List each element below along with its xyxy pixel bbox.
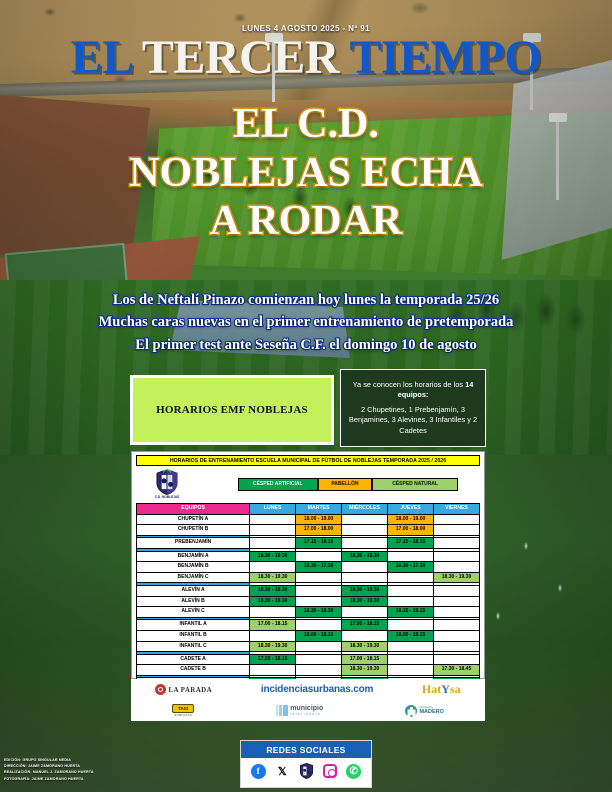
schedule-row: ALEVÍN A18.30 - 19.3018.30 - 19.30 (137, 585, 480, 596)
schedule-slot-cell: 18.00 - 19.00 (296, 514, 342, 525)
sponsor-hatysa[interactable]: HatYsa (422, 682, 461, 697)
column-header-miercoles: MIÉRCOLES (342, 504, 388, 515)
legend-cesped-artificial: CÉSPED ARTIFICIAL (238, 478, 318, 491)
sponsor-municipio-inteligente[interactable]: municipioINTELIGENTE (276, 705, 323, 716)
schedule-row: CADETE B18.30 - 19.3017.30 - 18.45 (137, 665, 480, 676)
schedule-row: CHUPETÍN A18.00 - 19.0018.00 - 19.00 (137, 514, 480, 525)
schedule-slot-cell: 18.30 - 19.30 (342, 551, 388, 562)
club-crest-label: C.D. NOBLEJAS (155, 495, 180, 499)
sponsor-strip: LA PARADA incidenciasurbanas.com HatYsa … (131, 679, 485, 721)
schedule-empty-cell (250, 630, 296, 641)
sponsor-farmacia-madero[interactable]: FarmaciaMADERO (405, 705, 443, 717)
schedule-slot-cell: 18.30 - 19.30 (342, 596, 388, 607)
schedule-empty-cell (434, 641, 480, 652)
schedule-slot-cell: 18.00 - 19.00 (388, 514, 434, 525)
schedule-slot-cell: 17.00 - 18.15 (342, 654, 388, 665)
subheadline-3: El primer test ante Seseña C.F. el domin… (0, 334, 612, 356)
schedule-slot-cell: 18.30 - 19.30 (296, 607, 342, 618)
schedule-empty-cell (434, 551, 480, 562)
headline-line-3: A RODAR (0, 197, 612, 246)
sponsor-incidencias-urbanas[interactable]: incidenciasurbanas.com (261, 684, 373, 695)
municipio-icon (276, 705, 288, 716)
schedule-empty-cell (342, 630, 388, 641)
taxi-sublabel: NOBLEJAS (174, 713, 192, 717)
credit-line-4: FOTOGRAFÍA: JAIME ZAMORANO HUERTA (4, 776, 164, 782)
headline-line-2: NOBLEJAS ECHA (0, 149, 612, 198)
social-media-panel: REDES SOCIALES f 𝕏 ✆ (240, 740, 372, 788)
schedule-empty-cell (434, 585, 480, 596)
farmacia-label: FarmaciaMADERO (419, 706, 443, 715)
equipos-info-line-2: equipos: (348, 390, 478, 401)
schedule-row: BENJAMÍN B16.30 - 17.3016.30 - 17.30 (137, 562, 480, 573)
newspaper-cover-page: LUNES 4 AGOSTO 2025 - Nº 91 EL TERCER TI… (0, 0, 612, 792)
schedule-slot-cell: 18.30 - 19.30 (342, 641, 388, 652)
team-name-cell: CHUPETÍN B (137, 525, 250, 536)
municipio-sublabel: INTELIGENTE (290, 712, 323, 716)
horarios-label-box: HORARIOS EMF NOBLEJAS (130, 375, 334, 445)
equipos-info-line-4: Benjamines, 3 Alevines, 3 Infantiles y 2 (348, 415, 478, 426)
schedule-slot-cell: 17.00 - 18.15 (342, 620, 388, 631)
equipos-info-box: Ya se conocen los horarios de los 14 equ… (340, 369, 486, 447)
team-name-cell: ALEVÍN C (137, 607, 250, 618)
social-media-title: REDES SOCIALES (241, 741, 371, 758)
schedule-empty-cell (296, 654, 342, 665)
team-name-cell: BENJAMÍN B (137, 562, 250, 573)
schedule-slot-cell: 16.30 - 17.30 (296, 562, 342, 573)
team-name-cell: CADETE A (137, 654, 250, 665)
equipos-info-line-5: Cadetes (348, 426, 478, 437)
schedule-empty-cell (296, 665, 342, 676)
headline-line-1: EL C.D. (0, 100, 612, 149)
x-twitter-icon[interactable]: 𝕏 (275, 764, 290, 779)
schedule-empty-cell (342, 514, 388, 525)
legend-pabellon: PABELLÓN (318, 478, 373, 491)
schedule-slot-cell: 18.30 - 19.30 (342, 585, 388, 596)
equipos-info-line-3: 2 Chupetines, 1 Prebenjamín, 3 (348, 405, 478, 416)
schedule-empty-cell (250, 562, 296, 573)
column-header-viernes: VIERNES (434, 504, 480, 515)
schedule-empty-cell (434, 596, 480, 607)
schedule-header-row: C.D. NOBLEJAS CÉSPED ARTIFICIAL PABELLÓN… (136, 468, 480, 500)
sponsor-row-bottom: TAXI NOBLEJAS municipioINTELIGENTE Farma… (131, 700, 485, 721)
column-header-equipos: EQUIPOS (137, 504, 250, 515)
schedule-row: PREBENJAMÍN17.15 - 18.1517.15 - 18.15 (137, 538, 480, 549)
schedule-empty-cell (296, 585, 342, 596)
taxi-label: TAXI (172, 704, 194, 713)
team-name-cell: INFANTIL B (137, 630, 250, 641)
schedule-slot-cell: 18.30 - 19.30 (250, 585, 296, 596)
legend-cesped-natural: CÉSPED NATURAL (372, 478, 458, 491)
schedule-row: BENJAMÍN A18.30 - 19.3018.30 - 19.30 (137, 551, 480, 562)
schedule-empty-cell (388, 654, 434, 665)
column-header-martes: MARTES (296, 504, 342, 515)
column-header-jueves: JUEVES (388, 504, 434, 515)
schedule-empty-cell (434, 538, 480, 549)
team-name-cell: BENJAMÍN A (137, 551, 250, 562)
subheadline-1: Los de Neftalí Pinazo comienzan hoy lune… (0, 289, 612, 311)
team-name-cell: INFANTIL C (137, 641, 250, 652)
schedule-slot-cell: 18.30 - 19.30 (342, 665, 388, 676)
schedule-empty-cell (250, 514, 296, 525)
credits-block: EDICIÓN: GRUPO SINGULAR MEDIA DIRECCIÓN:… (4, 757, 164, 782)
schedule-row: INFANTIL C18.30 - 19.3018.30 - 19.30 (137, 641, 480, 652)
schedule-row: INFANTIL A17.00 - 18.1517.00 - 18.15 (137, 620, 480, 631)
page-headline: EL C.D. NOBLEJAS ECHA A RODAR (0, 100, 612, 246)
schedule-empty-cell (342, 607, 388, 618)
schedule-slot-cell: 17.15 - 18.15 (388, 538, 434, 549)
team-name-cell: BENJAMÍN C (137, 572, 250, 583)
schedule-empty-cell (388, 665, 434, 676)
schedule-empty-cell (296, 641, 342, 652)
schedule-slot-cell: 18.30 - 19.30 (250, 551, 296, 562)
schedule-slot-cell: 17.00 - 18.15 (250, 620, 296, 631)
social-media-icons: f 𝕏 ✆ (241, 758, 371, 784)
schedule-slot-cell: 17.00 - 18.00 (388, 525, 434, 536)
schedule-slot-cell: 18.30 - 19.30 (250, 641, 296, 652)
schedule-empty-cell (388, 620, 434, 631)
club-badge-icon[interactable] (299, 763, 314, 779)
schedule-table-header: EQUIPOS LUNES MARTES MIÉRCOLES JUEVES VI… (137, 504, 480, 515)
masthead-word-el: EL (71, 31, 131, 84)
schedule-slot-cell: 16.30 - 17.30 (388, 562, 434, 573)
schedule-row: ALEVÍN C18.30 - 19.3018.15 - 19.15 (137, 607, 480, 618)
schedule-table-body: CHUPETÍN A18.00 - 19.0018.00 - 19.00CHUP… (137, 514, 480, 699)
schedule-slot-cell: 17.00 - 18.15 (250, 654, 296, 665)
schedule-row: CHUPETÍN B17.00 - 18.0017.00 - 18.00 (137, 525, 480, 536)
schedule-empty-cell (342, 572, 388, 583)
schedule-empty-cell (296, 551, 342, 562)
schedule-slot-cell: 17.30 - 18.45 (434, 665, 480, 676)
schedule-slot-cell: 18.30 - 19.30 (250, 596, 296, 607)
instagram-icon[interactable] (323, 764, 337, 778)
sponsor-la-parada[interactable]: LA PARADA (155, 684, 212, 695)
schedule-empty-cell (342, 562, 388, 573)
masthead-word-tercer: TERCER (142, 31, 339, 84)
farmacia-cross-icon (405, 705, 417, 717)
whatsapp-icon[interactable]: ✆ (346, 764, 361, 779)
schedule-slot-cell: 18.15 - 19.15 (388, 607, 434, 618)
subheadline-2: Muchas caras nuevas en el primer entrena… (0, 311, 612, 333)
schedule-empty-cell (434, 630, 480, 641)
schedule-empty-cell (434, 514, 480, 525)
equipos-info-text-a: Ya se conocen los horarios de los (353, 380, 465, 389)
schedule-empty-cell (250, 538, 296, 549)
masthead-word-tiempo: TIEMPO (350, 31, 542, 84)
surface-legend: CÉSPED ARTIFICIAL PABELLÓN CÉSPED NATURA… (238, 478, 458, 491)
schedule-row: INFANTIL B18.00 - 19.1518.00 - 19.15 (137, 630, 480, 641)
municipio-label: municipioINTELIGENTE (290, 705, 323, 716)
schedule-empty-cell (388, 551, 434, 562)
equipos-info-line-1: Ya se conocen los horarios de los 14 (348, 380, 478, 391)
schedule-sheet: HORARIOS DE ENTRENAMIENTO ESCUELA MUNICI… (131, 451, 485, 679)
schedule-title: HORARIOS DE ENTRENAMIENTO ESCUELA MUNICI… (136, 455, 480, 466)
schedule-empty-cell (250, 665, 296, 676)
schedule-empty-cell (388, 596, 434, 607)
la-parada-icon (155, 684, 166, 695)
horarios-label-text: HORARIOS EMF NOBLEJAS (156, 404, 308, 416)
schedule-empty-cell (434, 620, 480, 631)
schedule-slot-cell: 18.00 - 19.15 (296, 630, 342, 641)
club-crest-icon (154, 469, 180, 495)
schedule-slot-cell: 17.00 - 18.00 (296, 525, 342, 536)
schedule-empty-cell (342, 538, 388, 549)
schedule-empty-cell (434, 525, 480, 536)
schedule-empty-cell (434, 562, 480, 573)
schedule-empty-cell (342, 525, 388, 536)
schedule-empty-cell (296, 572, 342, 583)
sponsor-row-top: LA PARADA incidenciasurbanas.com HatYsa (131, 679, 485, 700)
schedule-empty-cell (434, 607, 480, 618)
facebook-icon[interactable]: f (251, 764, 266, 779)
schedule-row: BENJAMÍN C18.30 - 19.3018.30 - 19.30 (137, 572, 480, 583)
team-name-cell: INFANTIL A (137, 620, 250, 631)
team-name-cell: ALEVÍN A (137, 585, 250, 596)
schedule-empty-cell (250, 525, 296, 536)
team-name-cell: PREBENJAMÍN (137, 538, 250, 549)
schedule-empty-cell (388, 585, 434, 596)
schedule-empty-cell (250, 607, 296, 618)
club-crest: C.D. NOBLEJAS (136, 469, 198, 500)
schedule-slot-cell: 18.00 - 19.15 (388, 630, 434, 641)
schedule-empty-cell (296, 620, 342, 631)
schedule-row: CADETE A17.00 - 18.1517.00 - 18.15 (137, 654, 480, 665)
schedule-table: EQUIPOS LUNES MARTES MIÉRCOLES JUEVES VI… (136, 503, 480, 700)
masthead-title: EL TERCER TIEMPO (0, 34, 612, 82)
la-parada-label: LA PARADA (168, 686, 212, 694)
schedule-empty-cell (388, 572, 434, 583)
column-header-lunes: LUNES (250, 504, 296, 515)
team-name-cell: CHUPETÍN A (137, 514, 250, 525)
schedule-empty-cell (296, 596, 342, 607)
schedule-row: ALEVÍN B18.30 - 19.3018.30 - 19.30 (137, 596, 480, 607)
sponsor-taxi[interactable]: TAXI NOBLEJAS (172, 704, 194, 717)
schedule-slot-cell: 18.30 - 19.30 (250, 572, 296, 583)
hatysa-label: HatYsa (422, 682, 461, 697)
schedule-slot-cell: 17.15 - 18.15 (296, 538, 342, 549)
schedule-empty-cell (434, 654, 480, 665)
schedule-slot-cell: 18.30 - 19.30 (434, 572, 480, 583)
schedule-empty-cell (388, 641, 434, 652)
team-name-cell: CADETE B (137, 665, 250, 676)
team-name-cell: ALEVÍN B (137, 596, 250, 607)
equipos-count: 14 (465, 380, 473, 389)
subheadline-block: Los de Neftalí Pinazo comienzan hoy lune… (0, 289, 612, 356)
